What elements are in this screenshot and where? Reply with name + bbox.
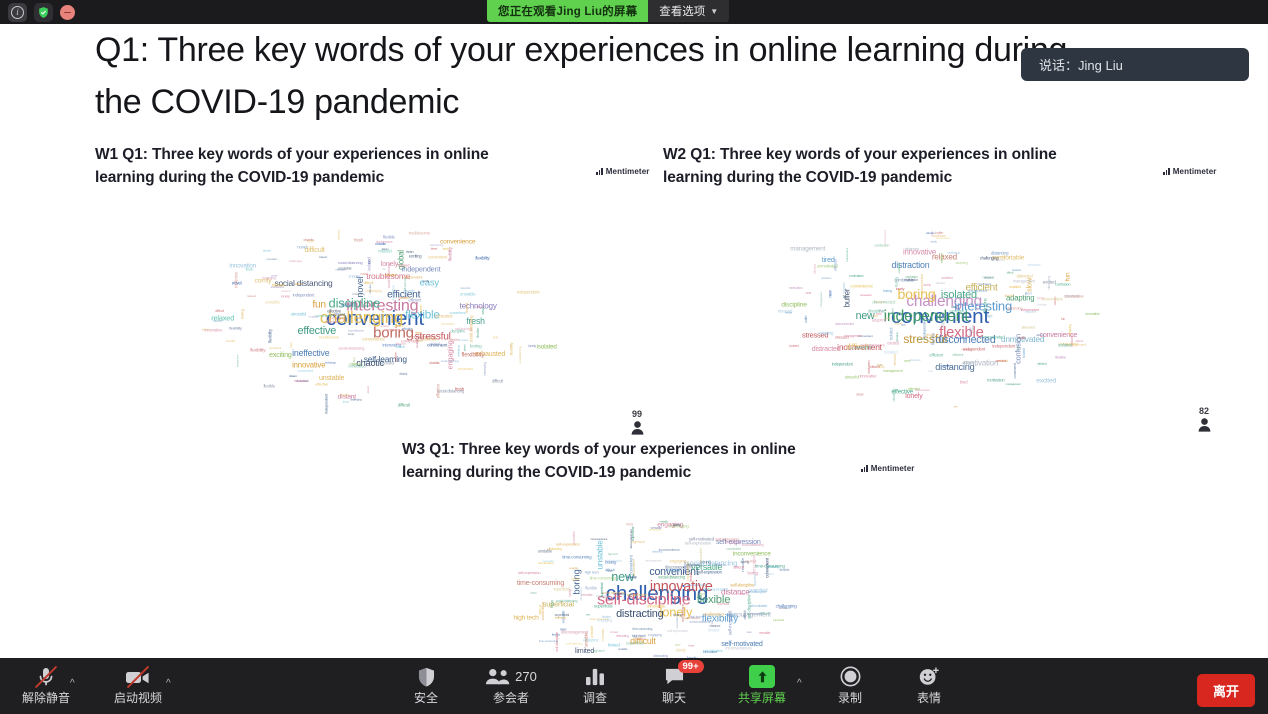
wordcloud-word: distance bbox=[714, 563, 726, 567]
toolbar-item-video[interactable]: 启动视频 ^ bbox=[110, 664, 166, 710]
wordcloud-word: limited bbox=[575, 647, 594, 655]
chat-bubble-icon: 99+ bbox=[664, 664, 685, 689]
wordcloud-word: flexible bbox=[689, 573, 693, 582]
wordcloud-word: confusion bbox=[897, 262, 901, 273]
wordcloud-word: tired bbox=[873, 314, 878, 318]
wordcloud-word: disconnected bbox=[872, 299, 895, 304]
wordcloud-word: time-consuming bbox=[632, 627, 652, 631]
wordcloud-word: confusion bbox=[1037, 304, 1047, 307]
toolbar-item-polls[interactable]: 调查 bbox=[571, 664, 619, 710]
wordcloud-word: unstable bbox=[265, 299, 280, 304]
mentimeter-label: Mentimeter bbox=[871, 464, 915, 473]
top-left-icon-group: i bbox=[8, 3, 75, 22]
wordcloud-word: flexible bbox=[396, 345, 406, 349]
wordcloud-word: new bbox=[626, 521, 633, 526]
wordcloud-word: relaxed bbox=[983, 275, 994, 280]
wordcloud-word: social distancing bbox=[441, 359, 459, 363]
toolbar-label-mute: 解除静音 bbox=[22, 691, 70, 705]
wordcloud-word: difficult bbox=[215, 309, 224, 313]
wordcloud-word: adapting bbox=[819, 330, 833, 335]
wordcloud-word: stressful bbox=[291, 311, 306, 316]
wordcloud-word: exhausted bbox=[294, 379, 307, 383]
wordcloud-word: engaging bbox=[670, 559, 686, 564]
wordcloud-word: chaotic bbox=[429, 361, 439, 365]
wordcloud-word: new bbox=[675, 643, 681, 647]
wordcloud-word: management bbox=[819, 292, 823, 307]
mentimeter-label: Mentimeter bbox=[1173, 167, 1217, 176]
wordcloud-word: new bbox=[550, 600, 555, 607]
wordcloud-word: challenging bbox=[365, 289, 381, 293]
toolbar-label-record: 录制 bbox=[838, 691, 862, 705]
wordcloud-word: versatile bbox=[613, 592, 624, 596]
wordcloud-word: distancing bbox=[905, 247, 919, 251]
wordcloud-word: difficult bbox=[398, 403, 410, 408]
wordcloud-word: distracted bbox=[1017, 273, 1033, 278]
toolbar-label-polls: 调查 bbox=[583, 691, 607, 705]
wordcloud-word: challenging bbox=[352, 292, 365, 296]
wordcloud-word: challenging bbox=[703, 611, 724, 616]
wordcloud-word: lonely bbox=[896, 287, 904, 291]
wordcloud-word: flexible bbox=[926, 333, 935, 337]
wordcloud-word: motivation bbox=[849, 274, 863, 278]
toolbar-item-share-screen[interactable]: 共享屏幕 ^ bbox=[727, 664, 797, 710]
wordcloud-word: social distancing bbox=[338, 345, 364, 350]
wordcloud-word: high tech bbox=[593, 649, 605, 653]
toolbar-item-participants[interactable]: 270 参会者 bbox=[480, 664, 542, 710]
wordcloud-word: innovative bbox=[860, 374, 877, 379]
wordcloud-word: tired bbox=[1025, 290, 1032, 295]
wordcloud-word: difficult bbox=[364, 281, 374, 285]
wordcloud-word: boring bbox=[883, 289, 892, 293]
wordcloud-word: lonely bbox=[281, 294, 290, 299]
wordcloud-word: discipline bbox=[983, 298, 988, 313]
wordcloud-word: unmotivated bbox=[817, 264, 838, 269]
wordcloud-word: convenience bbox=[362, 336, 384, 341]
wordcloud-word: engaging bbox=[764, 572, 773, 575]
wordcloud-word: new bbox=[930, 232, 934, 237]
wordcloud-word: efficient bbox=[870, 365, 880, 369]
wordcloud-word: self-expression bbox=[556, 542, 580, 547]
wordcloud-word: independent bbox=[921, 318, 926, 338]
wordcloud-word: innovative bbox=[458, 338, 469, 342]
wordcloud-word: difficult bbox=[492, 379, 503, 384]
wordcloud-word: stressed bbox=[891, 309, 894, 318]
view-options-button[interactable]: 查看选项 ▼ bbox=[648, 0, 729, 22]
wordcloud-word: lonely bbox=[673, 523, 681, 527]
wordcloud-word: innovative bbox=[336, 269, 346, 272]
active-speaker-toast: 说话：Jing Liu bbox=[1021, 48, 1249, 81]
wordcloud-word: effective bbox=[385, 273, 397, 277]
wordcloud-word: social distancing bbox=[518, 347, 522, 364]
view-options-label: 查看选项 bbox=[659, 3, 705, 19]
meeting-toolbar: 解除静音 ^ 启动视频 ^ 安全 bbox=[0, 658, 1268, 714]
person-icon bbox=[1198, 418, 1211, 432]
wordcloud-word: distraction bbox=[909, 358, 921, 362]
wordcloud-word: convenience bbox=[978, 282, 992, 286]
toolbar-label-video: 启动视频 bbox=[114, 691, 162, 705]
wordcloud-panel-w1: W1 Q1: Three key words of your experienc… bbox=[95, 144, 545, 189]
wordcloud-word: social distancing bbox=[689, 620, 713, 624]
wordcloud-word: new bbox=[639, 611, 644, 615]
wordcloud-word: discipline bbox=[962, 361, 974, 365]
wordcloud-word: social distancing bbox=[566, 642, 582, 645]
wordcloud-word: isolated bbox=[888, 328, 893, 341]
wordcloud-word: fresh bbox=[354, 238, 363, 243]
bar-chart-icon bbox=[596, 168, 603, 175]
wordcloud-word: isolated bbox=[1058, 343, 1072, 348]
mentimeter-label: Mentimeter bbox=[606, 167, 650, 176]
respondent-count: 99 bbox=[620, 409, 654, 420]
wordcloud-word: troublesome bbox=[319, 335, 339, 340]
wordcloud-word: stressed bbox=[1022, 325, 1035, 330]
wordcloud-word: unstable bbox=[319, 374, 344, 382]
wordcloud-word: ineffective bbox=[233, 272, 238, 288]
toolbar-item-record[interactable]: 录制 bbox=[826, 664, 874, 710]
wordcloud-word: difficult bbox=[733, 565, 744, 570]
wordcloud-word: distracting bbox=[652, 551, 662, 554]
wordcloud-panel-w2: W2 Q1: Three key words of your experienc… bbox=[663, 144, 1113, 189]
wordcloud-word: superficial bbox=[717, 602, 729, 606]
wordcloud-word: innovative bbox=[956, 336, 967, 340]
wordcloud-word: stressful bbox=[460, 286, 470, 290]
wordcloud-word: efficient bbox=[1025, 310, 1036, 314]
active-speaker-label: 说话：Jing Liu bbox=[1039, 55, 1123, 74]
wordcloud-word: relaxed bbox=[378, 248, 391, 253]
bar-chart-icon bbox=[861, 465, 868, 472]
wordcloud-word: fresh bbox=[307, 238, 315, 243]
wordcloud-word: high tech bbox=[631, 540, 645, 544]
wordcloud-word: innovation bbox=[266, 257, 277, 261]
record-circle-icon bbox=[840, 664, 861, 689]
wordcloud-word: stressed bbox=[1028, 263, 1041, 267]
wordcloud-word: independent bbox=[517, 289, 540, 294]
wordcloud-word: convenient bbox=[726, 547, 740, 551]
toolbar-item-reactions[interactable]: 表情 bbox=[905, 664, 953, 710]
wordcloud-word: interesting bbox=[1047, 276, 1051, 290]
wordcloud-word: lonely bbox=[348, 332, 354, 336]
wordcloud-word: independent bbox=[387, 328, 400, 331]
wordcloud-word: social distancing bbox=[658, 575, 685, 580]
wordcloud-word: effective bbox=[936, 281, 945, 285]
zoom-shared-screen-window: i 您正在观看Jing Liu的屏幕 查看选项 ▼ 说话：Jing Liu Q1… bbox=[0, 0, 1268, 714]
wordcloud-word: stressful bbox=[380, 361, 394, 366]
shield-icon bbox=[417, 664, 436, 689]
wordcloud-word: challenging bbox=[980, 256, 999, 261]
wordcloud-word: boring bbox=[239, 309, 244, 319]
wordcloud-word: distracting bbox=[616, 634, 629, 638]
toolbar-label-participants: 参会者 bbox=[493, 691, 529, 705]
wordcloud-word: flexible bbox=[1055, 355, 1066, 360]
wordcloud-word: self-discipline bbox=[748, 590, 767, 594]
wordcloud-word: fresh bbox=[455, 386, 464, 391]
toolbar-label-chat: 聊天 bbox=[662, 691, 686, 705]
wordcloud-word: comfy bbox=[271, 274, 277, 277]
wordcloud-word: superficial bbox=[773, 618, 784, 622]
wordcloud-word: convenient bbox=[675, 616, 679, 629]
wordcloud-word: challenging bbox=[289, 259, 302, 263]
wordcloud-word: independent bbox=[293, 292, 314, 297]
wordcloud-word: isolated bbox=[941, 276, 952, 280]
mentimeter-logo-w3: Mentimeter bbox=[861, 464, 914, 473]
wordcloud-w3: challengingself-disciplineinnovativelone… bbox=[512, 514, 802, 674]
wordcloud-word: new bbox=[904, 359, 910, 363]
wordcloud-word: isolated bbox=[789, 344, 799, 348]
wordcloud-word: technology bbox=[325, 361, 336, 364]
wordcloud-word: excited bbox=[1036, 377, 1056, 384]
wordcloud-word: easy bbox=[481, 308, 485, 315]
wordcloud-word: fresh bbox=[443, 247, 449, 251]
wordcloud-word: challenging bbox=[350, 398, 361, 401]
wordcloud-word: comfortable bbox=[1065, 293, 1084, 298]
wordcloud-word: convenient bbox=[1013, 364, 1017, 379]
wordcloud-panel-w3: W3 Q1: Three key words of your experienc… bbox=[402, 439, 852, 484]
microphone-muted-icon bbox=[37, 664, 55, 689]
wordcloud-word: unstable bbox=[590, 626, 594, 638]
wordcloud-word: fun bbox=[1064, 272, 1071, 281]
wordcloud-word: novel bbox=[297, 244, 307, 249]
wordcloud-word: effective bbox=[940, 253, 944, 263]
wordcloud-word: unstable bbox=[460, 291, 476, 296]
wordcloud-word: superficial bbox=[594, 603, 612, 608]
chevron-down-icon: ▼ bbox=[710, 7, 718, 16]
toolbar-label-security: 安全 bbox=[414, 691, 438, 705]
wordcloud-word: new bbox=[560, 627, 567, 632]
wordcloud-word: superficial bbox=[753, 574, 757, 586]
wordcloud-word: distant bbox=[289, 374, 296, 378]
wordcloud-word: ineffective bbox=[395, 352, 398, 361]
wordcloud-word: challenging bbox=[776, 604, 797, 609]
wordcloud-word: stressful bbox=[845, 374, 860, 379]
wordcloud-word: interesting bbox=[483, 362, 487, 375]
wordcloud-word: stressful bbox=[995, 359, 1005, 363]
wordcloud-word: new bbox=[739, 592, 745, 596]
wordcloud-word: motivation bbox=[789, 286, 803, 290]
wordcloud-word: boring bbox=[470, 343, 482, 348]
wordcloud-word: flexibility bbox=[229, 326, 242, 331]
share-screen-icon bbox=[749, 664, 775, 689]
wordcloud-word: fun bbox=[901, 323, 905, 327]
wordcloud-word: discipline bbox=[325, 320, 337, 324]
wordcloud-word: exhausted bbox=[435, 313, 452, 318]
wordcloud-word: versatile bbox=[581, 593, 593, 597]
wordcloud-word: inconvenience bbox=[726, 645, 752, 650]
wordcloud-word: unmotivated bbox=[982, 334, 1004, 339]
wordcloud-word: distant bbox=[463, 345, 466, 352]
meeting-top-bar: i 您正在观看Jing Liu的屏幕 查看选项 ▼ bbox=[0, 0, 1268, 24]
wordcloud-word: self-learning bbox=[403, 278, 407, 292]
chat-unread-badge: 99+ bbox=[678, 660, 704, 673]
wordcloud-word: motivation bbox=[987, 377, 1005, 382]
wordcloud-word: isolated bbox=[537, 343, 557, 350]
shield-icon[interactable] bbox=[34, 3, 53, 22]
wordcloud-word: comfy bbox=[422, 279, 428, 283]
wordcloud-word: convenience bbox=[440, 238, 475, 245]
wordcloud-word: slow bbox=[885, 316, 890, 320]
wordcloud-word: self-motivated bbox=[689, 536, 714, 541]
wordcloud-word: innovative bbox=[441, 322, 454, 326]
chevron-up-icon[interactable]: ^ bbox=[166, 678, 171, 689]
wordcloud-word: management bbox=[844, 334, 862, 338]
wordcloud-word: unstable bbox=[596, 540, 605, 569]
wordcloud-word: superficial bbox=[626, 577, 636, 580]
wordcloud-word: limited bbox=[708, 628, 719, 633]
watching-screen-label: 您正在观看Jing Liu的屏幕 bbox=[487, 0, 648, 22]
wordcloud-word: fun bbox=[1001, 255, 1006, 259]
wordcloud-word: convenience bbox=[850, 284, 872, 289]
wordcloud-word: chaotic bbox=[375, 242, 386, 246]
wordcloud-word: flexibility bbox=[461, 352, 484, 359]
info-icon[interactable]: i bbox=[8, 3, 27, 22]
wordcloud-word: exciting bbox=[409, 253, 422, 258]
wordcloud-word: lonely bbox=[727, 612, 737, 617]
wordcloud-word: lonely bbox=[676, 647, 686, 652]
wordcloud-word: motivation bbox=[947, 251, 960, 255]
wordcloud-word: novel bbox=[360, 272, 367, 276]
toolbar-item-chat[interactable]: 99+ 聊天 bbox=[650, 664, 698, 710]
toolbar-label-share-screen: 共享屏幕 bbox=[738, 691, 786, 705]
wordcloud-word: distant bbox=[394, 324, 403, 328]
wordcloud-word: isolated bbox=[281, 289, 290, 293]
wordcloud-word: stressful bbox=[213, 319, 222, 323]
chevron-up-icon[interactable]: ^ bbox=[797, 678, 802, 689]
wordcloud-word: relaxed bbox=[366, 386, 370, 394]
wordcloud-word: novel bbox=[419, 305, 423, 313]
wordcloud-word: innovative bbox=[601, 629, 605, 642]
bar-chart-icon bbox=[1163, 168, 1170, 175]
wordcloud-word: innovative bbox=[635, 638, 645, 641]
wordcloud-w1: convenientchallenginginterestingboringdi… bbox=[195, 224, 555, 414]
toolbar-item-mute[interactable]: 解除静音 ^ bbox=[18, 664, 74, 710]
wordcloud-word: social distancing bbox=[556, 599, 577, 603]
respondent-counter-w1: 99 bbox=[620, 409, 654, 435]
wordcloud-word: innovative bbox=[1085, 312, 1099, 316]
wordcloud-word: self-learning bbox=[458, 345, 461, 357]
wordcloud-word: relaxed bbox=[319, 255, 327, 259]
wordcloud-word: convenient bbox=[1042, 296, 1062, 301]
wordcloud-word: high tech bbox=[608, 552, 618, 556]
wordcloud-word: buffer bbox=[1019, 336, 1026, 340]
wordcloud-word: stressed bbox=[778, 308, 793, 313]
wordcloud-word: exhausted bbox=[458, 367, 473, 371]
wordcloud-word: flexible bbox=[263, 383, 274, 388]
wordcloud-word: convenience bbox=[975, 339, 989, 343]
wordcloud-word: limited bbox=[611, 630, 619, 634]
wordcloud-word: fun bbox=[493, 334, 498, 339]
wordcloud-word: exciting bbox=[415, 340, 419, 348]
mentimeter-logo-w1: Mentimeter bbox=[596, 167, 649, 176]
stop-recording-icon[interactable] bbox=[60, 5, 75, 20]
wordcloud-word: lonely bbox=[923, 283, 930, 287]
wordcloud-word: versatile bbox=[759, 631, 770, 635]
wordcloud-word: efficient bbox=[1037, 362, 1046, 366]
page-title: Q1: Three key words of your experiences … bbox=[95, 24, 1105, 128]
wordcloud-word: fun bbox=[987, 313, 993, 318]
wordcloud-word: lonely bbox=[568, 589, 572, 596]
wordcloud-word: new bbox=[827, 291, 832, 298]
wordcloud-word: difficult bbox=[295, 282, 302, 286]
wordcloud-word: confusion bbox=[821, 276, 831, 280]
wordcloud-word: independent bbox=[845, 248, 849, 262]
wordcloud-heading-w1: W1 Q1: Three key words of your experienc… bbox=[95, 144, 545, 189]
wordcloud-word: efficient bbox=[929, 353, 943, 358]
wordcloud-word: independent bbox=[323, 394, 328, 414]
wordcloud-word: distant bbox=[399, 372, 407, 376]
wordcloud-word: relaxed bbox=[272, 283, 284, 288]
wordcloud-word: global bbox=[429, 341, 440, 346]
wordcloud-word: ineffective bbox=[391, 285, 396, 301]
wordcloud-word: effective bbox=[315, 382, 328, 387]
wordcloud-word: isolated bbox=[1009, 285, 1021, 289]
wordcloud-word: distracting bbox=[749, 612, 762, 616]
wordcloud-word: difficult bbox=[537, 604, 542, 614]
wordcloud-word: easy bbox=[289, 342, 293, 348]
wordcloud-word: lonely bbox=[528, 344, 536, 348]
wordcloud-word: flexibility bbox=[509, 342, 514, 355]
wordcloud-word: troublesome bbox=[409, 231, 430, 236]
wordcloud-word: self-learning bbox=[430, 243, 444, 247]
wordcloud-word: flexible bbox=[971, 325, 975, 333]
wordcloud-word: discipline bbox=[341, 302, 355, 307]
wordcloud-word: social distancing bbox=[468, 315, 473, 342]
wordcloud-word: confusion bbox=[905, 275, 917, 279]
wordcloud-word: convenient bbox=[269, 346, 281, 350]
wordcloud-word: flexibility bbox=[250, 347, 265, 352]
chevron-up-icon[interactable]: ^ bbox=[70, 678, 75, 689]
wordcloud-word: flexible bbox=[1005, 294, 1014, 298]
wordcloud-word: inconvenient bbox=[850, 346, 870, 351]
wordcloud-word: effective bbox=[435, 384, 440, 398]
wordcloud-word: discipline bbox=[450, 328, 465, 333]
wordcloud-word: discouragement bbox=[645, 560, 661, 563]
wordcloud-word: distraction bbox=[892, 389, 896, 402]
wordcloud-word: self-discipline bbox=[649, 528, 662, 531]
wordcloud-word: innovative bbox=[543, 559, 554, 563]
wordcloud-word: isolated bbox=[884, 349, 898, 354]
wordcloud-heading-w2: W2 Q1: Three key words of your experienc… bbox=[663, 144, 1113, 189]
wordcloud-word: independent bbox=[832, 362, 853, 367]
emoji-icon bbox=[918, 664, 940, 689]
wordcloud-word: adapting bbox=[955, 261, 967, 265]
wordcloud-word: fresh bbox=[343, 400, 349, 404]
wordcloud-word: management bbox=[790, 246, 825, 253]
wordcloud-word: superficial bbox=[626, 641, 644, 646]
wordcloud-word: independent bbox=[236, 355, 239, 367]
wordcloud-word: slow bbox=[951, 305, 957, 309]
toolbar-item-security[interactable]: 安全 bbox=[402, 664, 450, 710]
wordcloud-word: time-consuming bbox=[539, 639, 558, 643]
participant-count: 270 bbox=[515, 669, 537, 684]
wordcloud-word: lonely bbox=[688, 644, 694, 647]
respondent-counter-w2: 82 bbox=[1187, 406, 1221, 432]
person-icon bbox=[631, 421, 644, 435]
wordcloud-word: self-expression bbox=[697, 569, 722, 574]
leave-meeting-button[interactable]: 离开 bbox=[1197, 674, 1255, 707]
wordcloud-word: flexibility bbox=[475, 256, 489, 261]
wordcloud-word: unstable bbox=[618, 647, 627, 651]
wordcloud-word: fun bbox=[879, 308, 884, 313]
wordcloud-word: distracted bbox=[812, 345, 841, 353]
mentimeter-logo-w2: Mentimeter bbox=[1163, 167, 1216, 176]
wordcloud-word: management bbox=[1006, 382, 1021, 386]
wordcloud-word: difficult bbox=[743, 611, 747, 620]
wordcloud-word: management bbox=[883, 369, 903, 373]
wordcloud-word: self-expression bbox=[667, 629, 688, 633]
wordcloud-word: new bbox=[747, 630, 752, 634]
wordcloud-word: comfortable bbox=[949, 309, 963, 313]
wordcloud-word: exciting bbox=[269, 351, 291, 359]
wordcloud-word: fun bbox=[1061, 317, 1065, 321]
wordcloud-word: lonely bbox=[931, 241, 937, 244]
